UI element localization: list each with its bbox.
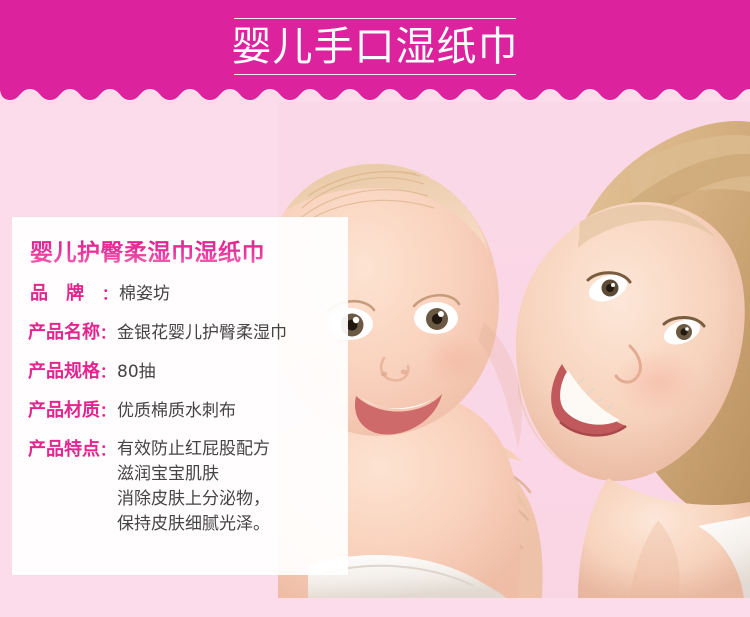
spec-row-specification: 产品规格 ： 80抽 bbox=[28, 359, 346, 385]
banner-rule-bottom bbox=[234, 74, 516, 75]
scalloped-divider bbox=[0, 86, 750, 102]
spec-label-product-name: 产品名称 bbox=[28, 320, 100, 346]
spec-label-material: 产品材质 bbox=[28, 398, 100, 424]
spec-value-product-name: 金银花婴儿护臀柔湿巾 bbox=[117, 320, 346, 346]
spec-label-features: 产品特点 bbox=[28, 437, 100, 463]
header-banner: 婴儿手口湿纸巾 bbox=[0, 0, 750, 98]
spec-colon-material: ： bbox=[100, 398, 117, 424]
feature-line-1: 有效防止红屁股配方 bbox=[117, 437, 346, 462]
page-title: 婴儿手口湿纸巾 bbox=[232, 23, 519, 71]
feature-line-2: 滋润宝宝肌肤 bbox=[117, 462, 346, 487]
product-panel-title: 婴儿护臀柔湿巾湿纸巾 bbox=[30, 239, 330, 267]
feature-line-4: 保持皮肤细腻光泽。 bbox=[117, 512, 346, 537]
header-banner-inner: 婴儿手口湿纸巾 bbox=[0, 0, 750, 92]
product-detail-page: 婴儿手口湿纸巾 婴儿护臀柔湿巾湿纸巾 品牌 ： 棉姿坊 产品名称 ： 金银花婴儿… bbox=[0, 0, 750, 617]
mother-and-baby-photo bbox=[278, 96, 750, 598]
banner-rule-top bbox=[234, 18, 516, 19]
spec-value-material: 优质棉质水刺布 bbox=[117, 398, 346, 424]
spec-colon-features: ： bbox=[100, 437, 117, 463]
spec-colon-brand: ： bbox=[102, 281, 119, 307]
spec-label-brand: 品牌 bbox=[28, 281, 102, 307]
spec-row-product-name: 产品名称 ： 金银花婴儿护臀柔湿巾 bbox=[28, 320, 346, 346]
spec-value-features: 有效防止红屁股配方 滋润宝宝肌肤 消除皮肤上分泌物， 保持皮肤细腻光泽。 bbox=[117, 437, 346, 537]
spec-value-specification: 80抽 bbox=[117, 359, 346, 385]
bottom-strip bbox=[0, 598, 750, 617]
spec-row-brand: 品牌 ： 棉姿坊 bbox=[28, 281, 346, 307]
product-spec-list: 品牌 ： 棉姿坊 产品名称 ： 金银花婴儿护臀柔湿巾 产品规格 ： 80抽 产品… bbox=[28, 281, 346, 550]
spec-row-material: 产品材质 ： 优质棉质水刺布 bbox=[28, 398, 346, 424]
product-info-panel: 婴儿护臀柔湿巾湿纸巾 品牌 ： 棉姿坊 产品名称 ： 金银花婴儿护臀柔湿巾 产品… bbox=[12, 217, 348, 575]
spec-colon-specification: ： bbox=[100, 359, 117, 385]
spec-label-specification: 产品规格 bbox=[28, 359, 100, 385]
spec-row-features: 产品特点 ： 有效防止红屁股配方 滋润宝宝肌肤 消除皮肤上分泌物， 保持皮肤细腻… bbox=[28, 437, 346, 537]
spec-value-brand: 棉姿坊 bbox=[119, 281, 346, 307]
spec-colon-product-name: ： bbox=[100, 320, 117, 346]
feature-line-3: 消除皮肤上分泌物， bbox=[117, 487, 346, 512]
